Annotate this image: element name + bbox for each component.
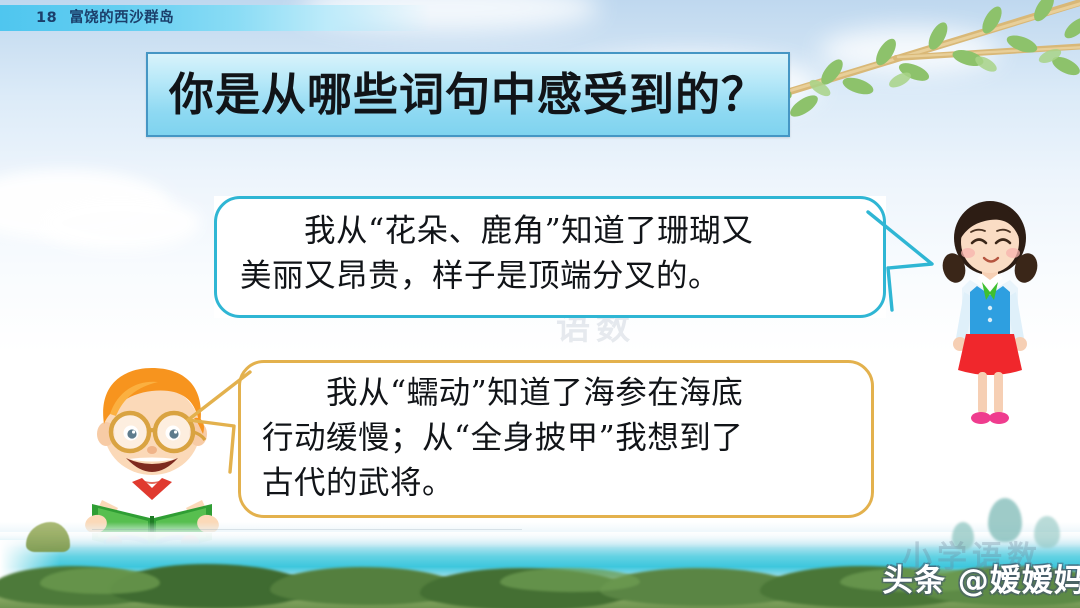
teal-bush-shape xyxy=(952,522,974,550)
lesson-title: 富饶的西沙群岛 xyxy=(69,10,174,26)
question-title-text: 你是从哪些词句中感受到的？ xyxy=(169,72,767,117)
teal-bush-shape xyxy=(988,498,1022,542)
speech-bubble-coral-text: 我从“花朵、鹿角”知道了珊瑚又 美丽又昂贵，样子是顶端分叉的。 xyxy=(214,196,886,299)
speech-bubble-seacucumber-text: 我从“蠕动”知道了海参在海底 行动缓慢；从“全身披甲”我想到了 古代的武将。 xyxy=(238,360,874,506)
slide-canvas: 18富饶的西沙群岛 你是从哪些词句中感受到的？ 语数 我从“花朵、鹿角”知道了珊… xyxy=(0,0,1080,608)
shrub-shape xyxy=(40,568,160,594)
shrub-shape xyxy=(500,568,640,592)
cloud-shape xyxy=(40,196,200,250)
lesson-banner-label: 18富饶的西沙群岛 xyxy=(36,7,174,29)
shrub-shape xyxy=(840,568,990,592)
question-title-box: 你是从哪些词句中感受到的？ xyxy=(146,52,790,137)
speech-bubble-seacucumber: 我从“蠕动”知道了海参在海底 行动缓慢；从“全身披甲”我想到了 古代的武将。 xyxy=(238,360,874,518)
girl-student-illustration xyxy=(930,196,1050,436)
speech-bubble-coral: 我从“花朵、鹿角”知道了珊瑚又 美丽又昂贵，样子是顶端分叉的。 xyxy=(214,196,886,318)
horizon-haze xyxy=(0,532,1080,548)
lesson-number: 18 xyxy=(36,10,57,26)
teal-bush-shape xyxy=(1034,516,1060,548)
faint-watermark-line xyxy=(92,529,522,530)
foliage-strip xyxy=(0,552,1080,608)
